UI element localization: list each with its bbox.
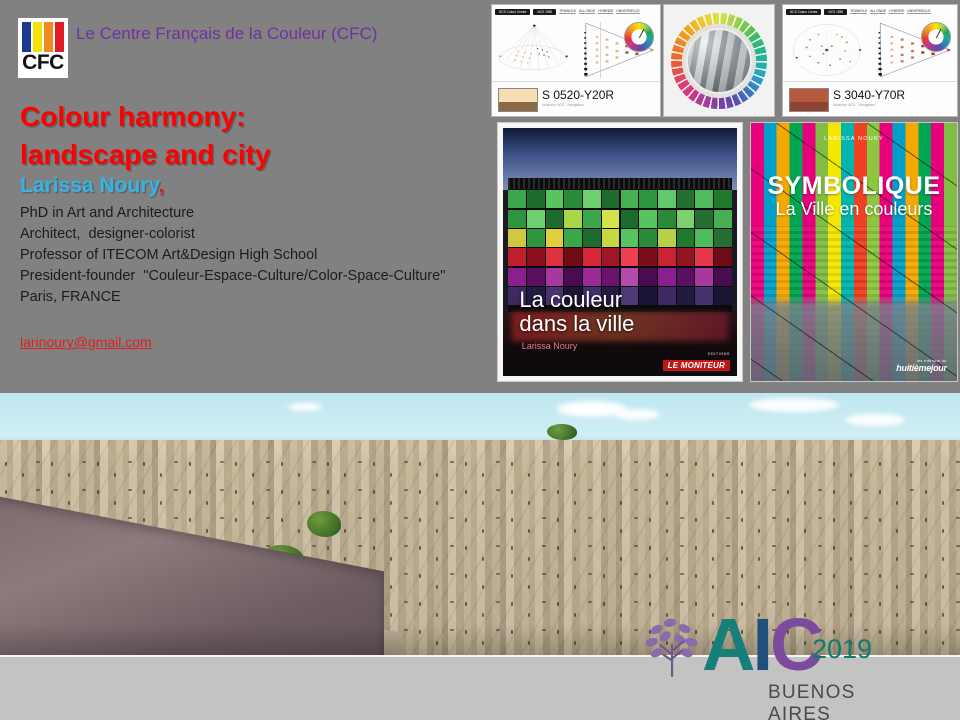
page-title-line2: landscape and city: [20, 136, 271, 174]
page-title-line1: Colour harmony:: [20, 98, 271, 136]
ncs-colour-swatch: [789, 88, 829, 112]
book1-author: Larissa Noury: [522, 341, 578, 351]
ncs-tab[interactable]: UNIVERSELLE: [616, 9, 639, 14]
ncs-hue-circle-svg: [785, 18, 869, 82]
aic-acronym: AIC: [702, 604, 820, 686]
ncs-body-left: [492, 18, 660, 82]
hue-wheel-icon: [624, 22, 654, 52]
book2-subtitle: La Ville en couleurs: [751, 199, 957, 220]
author-name-comma: ,: [159, 174, 165, 197]
presentation-slide: CFC Le Centre Français de la Couleur (CF…: [0, 0, 960, 720]
ncs-hue-circle-diagram: [785, 18, 869, 82]
ncs-toolbar-left: NCS Colour Centre NCS 1950 TRIANGLE ALLO…: [492, 5, 660, 18]
credential-line: President-founder "Couleur-Espace-Cultur…: [20, 266, 445, 287]
ncs-caption: Nuancier NCS - Navigateur: [542, 103, 584, 107]
ncs-cone-diagram: [494, 18, 575, 82]
aic-2019-logo: AIC 2019 BUENOS AIRES: [636, 608, 876, 708]
ncs-tab[interactable]: ALLONGE: [870, 9, 886, 14]
author-name: Larissa Noury,: [20, 174, 164, 198]
page-title: Colour harmony: landscape and city: [20, 98, 271, 174]
book1-facade-row: [508, 210, 733, 228]
book1-title: La couleur dans la ville: [519, 288, 634, 336]
ncs-footer-left: S 0520-Y20R Nuancier NCS - Navigateur: [492, 81, 660, 116]
ncs-tab[interactable]: TRIANGLE: [559, 9, 576, 14]
ncs-chip: NCS 1950: [824, 9, 847, 15]
tree: [307, 511, 341, 537]
ncs-software-screenshot-right: NCS Colour Centre NCS 1950 TRIANGLE ALLO…: [782, 4, 958, 117]
book1-facade-row: [508, 268, 733, 286]
ncs-tab[interactable]: HYBRIDE: [598, 9, 613, 14]
book1-title-line2: dans la ville: [519, 312, 634, 336]
cloud: [614, 409, 660, 420]
ncs-chip: NCS Colour Centre: [786, 9, 821, 15]
ncs-colour-code: S 0520-Y20R: [542, 88, 614, 102]
aic-letter-a: A: [702, 603, 752, 686]
cfc-logo-text: CFC: [18, 51, 68, 75]
organisation-name: Le Centre Français de la Couleur (CFC): [76, 24, 377, 44]
book2-author: LARISSA NOURY: [751, 136, 957, 142]
conference-city: BUENOS AIRES: [768, 682, 876, 726]
tree-icon: [644, 616, 702, 678]
book2-publisher-block: les éditions du huitièmejour: [896, 358, 946, 373]
book1-facade-row: [508, 248, 733, 266]
ncs-cone-svg: [494, 18, 575, 82]
author-email-link[interactable]: larinoury@gmail.com: [20, 334, 152, 350]
ncs-tab[interactable]: ALLONGE: [579, 9, 595, 14]
ncs-tab[interactable]: UNIVERSELLE: [907, 9, 930, 14]
aic-letter-i: I: [752, 603, 770, 686]
ncs-software-screenshot-left: NCS Colour Centre NCS 1950 TRIANGLE ALLO…: [491, 4, 661, 117]
book1-facade-row: [508, 229, 733, 247]
colour-wheel-panel: [663, 4, 775, 117]
ncs-colour-swatch: [498, 88, 538, 112]
ncs-caption: Nuancier NCS - Navigateur: [833, 103, 875, 107]
ncs-tab[interactable]: HYBRIDE: [889, 9, 904, 14]
book1-roof: [508, 178, 733, 189]
ncs-toolbar-right: NCS Colour Centre NCS 1950 TRIANGLE ALLO…: [783, 5, 957, 18]
book1-publisher: LE MONITEUR: [663, 360, 730, 371]
credential-line: Professor of ITECOM Art&Design High Scho…: [20, 245, 445, 266]
ncs-tab[interactable]: TRIANGLE: [850, 9, 867, 14]
credential-line: PhD in Art and Architecture: [20, 203, 445, 224]
book1-publisher-prefix: EDITIONS: [708, 351, 730, 356]
ncs-footer-right: S 3040-Y70R Nuancier NCS - Navigateur: [783, 81, 957, 116]
book2-diagonal-lines: [750, 122, 958, 382]
book2-title: SYMBOLIQUE: [751, 172, 957, 201]
credential-line: Paris, FRANCE: [20, 287, 445, 308]
ncs-body-right: [783, 18, 957, 82]
author-credentials: PhD in Art and Architecture Architect, d…: [20, 203, 445, 308]
colour-wheel-ring: [671, 13, 767, 109]
book1-facade-row: [508, 190, 733, 208]
cfc-logo-colorbars: [22, 22, 64, 52]
ncs-colour-code: S 3040-Y70R: [833, 88, 905, 102]
credential-line: Architect, designer-colorist: [20, 224, 445, 245]
book1-title-line1: La couleur: [519, 288, 634, 312]
book2-publisher: huitièmejour: [896, 363, 946, 373]
building-photo-thumbnail: [688, 30, 750, 92]
ncs-triangle-diagram: [576, 18, 658, 82]
cfc-logo: CFC: [18, 18, 68, 78]
cloud: [845, 414, 905, 426]
book1-image: La couleur dans la ville Larissa Noury E…: [503, 128, 737, 376]
author-name-text: Larissa Noury: [20, 174, 159, 197]
hue-wheel-icon: [921, 22, 951, 52]
ncs-triangle-diagram-right: [870, 18, 955, 82]
ncs-chip: NCS 1950: [533, 9, 556, 15]
ncs-chip: NCS Colour Centre: [495, 9, 530, 15]
book-cover-la-couleur-dans-la-ville: La couleur dans la ville Larissa Noury E…: [497, 122, 743, 382]
conference-year: 2019: [812, 634, 872, 665]
book-cover-symbolique: LARISSA NOURY SYMBOLIQUE La Ville en cou…: [750, 122, 958, 382]
